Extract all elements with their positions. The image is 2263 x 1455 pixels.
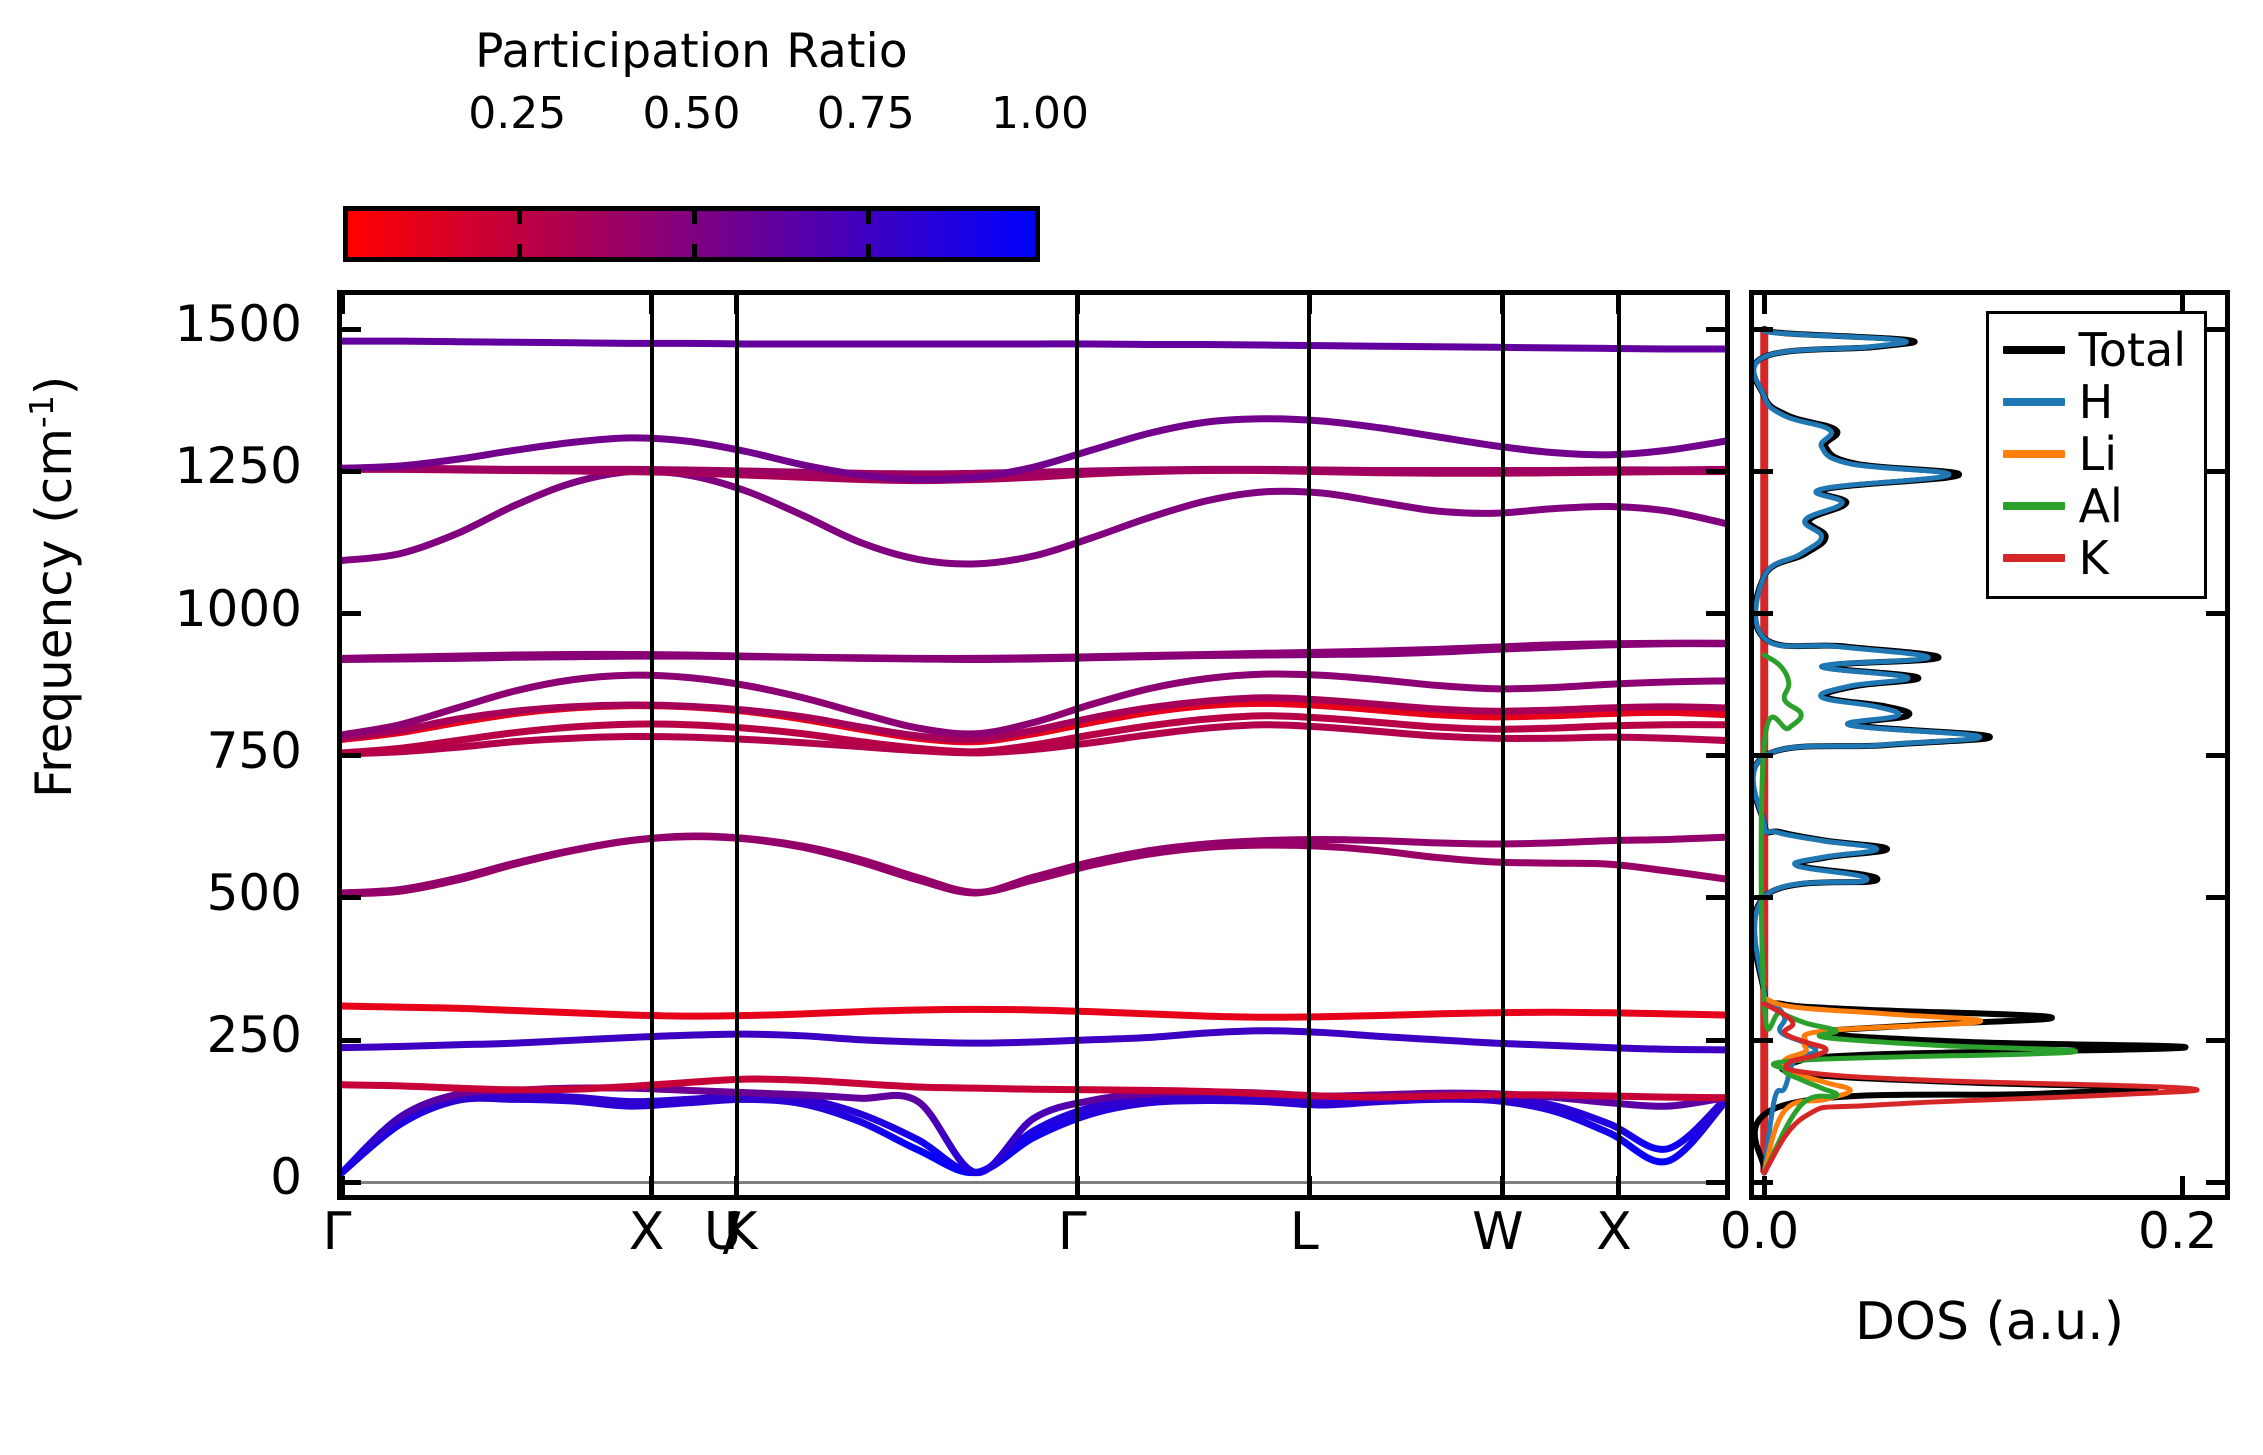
band-x-tick-top [1616, 294, 1621, 314]
band-x-tick [1307, 1176, 1312, 1196]
colorbar-tick [692, 244, 697, 257]
high-symmetry-separator [735, 295, 739, 1195]
dos-y-tick [1753, 611, 1773, 616]
band-y-tick-right [1706, 895, 1726, 900]
legend-label: Li [2079, 431, 2117, 477]
high-symmetry-separator [1307, 295, 1311, 1195]
legend-color-swatch [2003, 502, 2065, 510]
dos-y-tick [2206, 469, 2226, 474]
dos-x-tick-label: 0.2 [2138, 1206, 2218, 1256]
band-x-tick-top [734, 294, 739, 314]
band-y-tick [341, 1038, 361, 1043]
colorbar-tick-label: 0.25 [468, 92, 566, 136]
band-x-tick-label: Γ [1058, 1206, 1087, 1258]
dos-y-tick [2206, 895, 2226, 900]
legend-item[interactable]: Li [2003, 428, 2186, 480]
band-y-tick-label: 1000 [175, 584, 302, 634]
band-y-tick-right [1706, 1038, 1726, 1043]
legend-item[interactable]: Total [2003, 324, 2186, 376]
band-x-tick-label: X [1596, 1206, 1632, 1258]
phonon-branch [342, 471, 1725, 564]
band-y-tick-label: 1250 [175, 441, 302, 491]
dos-x-tick-top [2180, 294, 2185, 314]
phonon-branch [342, 1095, 1725, 1172]
legend-color-swatch [2003, 554, 2065, 562]
band-y-tick [341, 895, 361, 900]
dos-axes[interactable]: TotalHLiAlK [1749, 290, 2230, 1200]
phonon-band-dos-figure: Participation Ratio 0.250.500.751.00 025… [0, 0, 2263, 1455]
dos-y-tick [2206, 753, 2226, 758]
dos-y-tick [2206, 1038, 2226, 1043]
colorbar-tick [692, 211, 697, 224]
legend-color-swatch [2003, 398, 2065, 406]
phonon-branch [342, 341, 1725, 349]
phonon-branch [342, 1031, 1725, 1050]
phonon-branch [342, 1098, 1725, 1172]
colorbar-tick-labels: 0.250.500.751.00 [343, 92, 1040, 144]
band-plot-area [342, 295, 1725, 1195]
band-curves [342, 295, 1725, 1195]
colorbar-title: Participation Ratio [343, 28, 1040, 75]
band-x-tick-labels: ΓXU/KΓLWX [337, 1206, 1730, 1296]
dos-y-tick [1753, 327, 1773, 332]
band-y-tick-right [1706, 469, 1726, 474]
legend-item[interactable]: K [2003, 532, 2186, 584]
dos-legend[interactable]: TotalHLiAlK [1986, 311, 2207, 599]
band-x-tick [734, 1176, 739, 1196]
band-x-tick-label: W [1472, 1206, 1523, 1258]
band-x-tick-top [1500, 294, 1505, 314]
colorbar-tick-label: 1.00 [991, 92, 1089, 136]
dos-x-axis-label: DOS (a.u.) [1749, 1296, 2230, 1348]
legend-color-swatch [2003, 450, 2065, 458]
colorbar-tick-label: 0.50 [643, 92, 741, 136]
band-x-tick [1075, 1176, 1080, 1196]
band-y-tick-right [1706, 327, 1726, 332]
band-y-tick-right [1706, 1180, 1726, 1185]
band-y-tick [341, 469, 361, 474]
band-x-tick-label: X [629, 1206, 665, 1258]
band-y-tick-label: 500 [207, 868, 302, 918]
band-x-tick [1616, 1176, 1621, 1196]
colorbar-tick [866, 211, 871, 224]
band-x-tick-top [340, 294, 345, 314]
dos-x-tick [2180, 1176, 2185, 1196]
band-y-tick [341, 611, 361, 616]
band-y-tick [341, 753, 361, 758]
band-y-axis-label: Frequency (cm-1) [25, 277, 79, 897]
legend-label: Al [2079, 483, 2123, 529]
dos-y-tick [2206, 611, 2226, 616]
dos-x-tick-label: 0.0 [1720, 1206, 1800, 1256]
dos-y-tick [2206, 1180, 2226, 1185]
colorbar-tick-label: 0.75 [817, 92, 915, 136]
band-x-tick-top [1307, 294, 1312, 314]
legend-label: Total [2079, 327, 2186, 373]
band-y-tick-label: 0 [270, 1152, 302, 1202]
participation-ratio-colorbar [343, 206, 1040, 262]
band-x-tick [340, 1176, 345, 1196]
dos-x-tick-top [1762, 294, 1767, 314]
dos-x-tick-labels: 0.00.2 [1749, 1206, 2230, 1296]
colorbar-tick [517, 211, 522, 224]
band-x-tick-label: Γ [323, 1206, 352, 1258]
band-y-tick-label: 750 [207, 726, 302, 776]
legend-color-swatch [2003, 346, 2065, 354]
band-y-tick-right [1706, 611, 1726, 616]
high-symmetry-separator [1501, 295, 1505, 1195]
colorbar-tick [866, 244, 871, 257]
legend-label: K [2079, 535, 2109, 581]
high-symmetry-separator [1075, 295, 1079, 1195]
band-y-tick [341, 327, 361, 332]
dos-y-tick [1753, 469, 1773, 474]
high-symmetry-separator [1617, 295, 1621, 1195]
legend-label: H [2079, 379, 2114, 425]
legend-item[interactable]: H [2003, 376, 2186, 428]
dos-y-tick [2206, 327, 2226, 332]
band-x-tick [1500, 1176, 1505, 1196]
colorbar-tick [517, 244, 522, 257]
band-x-tick [649, 1176, 654, 1196]
zero-frequency-line [342, 1181, 1725, 1184]
legend-item[interactable]: Al [2003, 480, 2186, 532]
dos-curve-li [1764, 998, 1980, 1172]
band-structure-axes[interactable] [337, 290, 1730, 1200]
dos-y-tick [1753, 895, 1773, 900]
band-y-tick-label: 1500 [175, 299, 302, 349]
band-x-tick-top [649, 294, 654, 314]
band-y-tick-label: 250 [207, 1010, 302, 1060]
high-symmetry-separator [650, 295, 654, 1195]
dos-y-tick [1753, 1038, 1773, 1043]
phonon-branch [342, 1006, 1725, 1017]
dos-x-tick [1762, 1176, 1767, 1196]
band-x-tick-label: L [1290, 1206, 1319, 1258]
dos-y-tick [1753, 753, 1773, 758]
band-x-tick-top [1075, 294, 1080, 314]
band-y-tick-right [1706, 753, 1726, 758]
